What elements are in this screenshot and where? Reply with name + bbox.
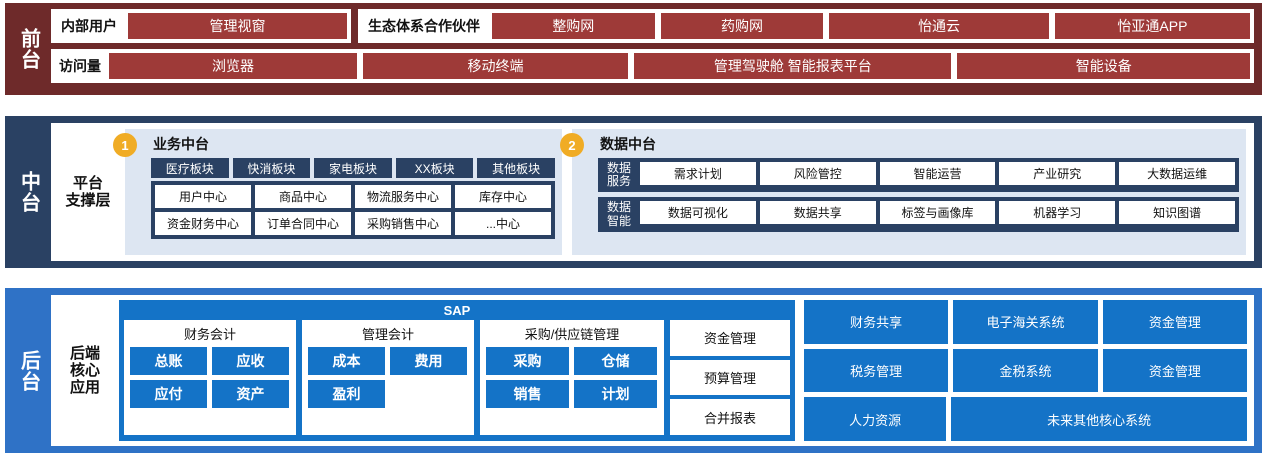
center-logistics-service[interactable]: 物流服务中心 (355, 185, 451, 208)
management-accounting-chips: 成本 费用 盈利 (308, 347, 468, 408)
segment-xx[interactable]: XX板块 (396, 158, 474, 178)
system-fund-management-1[interactable]: 资金管理 (1103, 300, 1247, 344)
front-tile-management-cockpit[interactable]: 管理驾驶舱 智能报表平台 (634, 53, 951, 79)
system-e-customs[interactable]: 电子海关系统 (953, 300, 1097, 344)
segment-other[interactable]: 其他板块 (477, 158, 555, 178)
data-intel-tag-image-library[interactable]: 标签与画像库 (880, 201, 996, 224)
data-intel-machine-learning[interactable]: 机器学习 (999, 201, 1115, 224)
data-service-risk-control[interactable]: 风险管控 (760, 162, 876, 185)
sap-box: SAP 财务会计 总账 应收 应付 资产 管理会计 (119, 300, 795, 441)
chip-planning[interactable]: 计划 (574, 380, 657, 408)
data-middle-platform-card: 2 数据中台 数据 服务 需求计划 风险管控 智能运营 产业研究 大数据运维 (572, 129, 1246, 255)
middle-stage-label: 中台 (5, 116, 51, 268)
middle-cards: 1 业务中台 医疗板块 快消板块 家电板块 XX板块 其他板块 用户中心 商品中… (125, 123, 1254, 261)
sap-column-financial-accounting: 财务会计 总账 应收 应付 资产 (124, 320, 296, 435)
segment-medical[interactable]: 医疗板块 (151, 158, 229, 178)
data-middle-platform-title: 数据中台 (600, 134, 1239, 154)
front-stage-band: 前台 内部用户 管理视窗 生态体系合作伙伴 整购网 药购网 怡通云 怡亚通APP… (5, 3, 1262, 95)
back-stage-band: 后台 后端 核心 应用 SAP 财务会计 总账 应收 (5, 288, 1262, 453)
data-intelligence-caption-line-2: 智能 (607, 215, 631, 228)
procurement-chips: 采购 仓储 销售 计划 (486, 347, 658, 408)
segment-fmcg[interactable]: 快消板块 (233, 158, 311, 178)
front-tile-mobile-terminal[interactable]: 移动终端 (363, 53, 628, 79)
backend-core-line-2: 核心 (70, 362, 100, 379)
sap-finance-tiles-column: 资金管理 预算管理 合并报表 (670, 320, 790, 435)
sap-column-financial-accounting-title: 财务会计 (130, 324, 290, 343)
chip-sales[interactable]: 销售 (486, 380, 569, 408)
center-fund-finance[interactable]: 资金财务中心 (155, 212, 251, 235)
business-centers-row-2: 资金财务中心 订单合同中心 采购销售中心 ...中心 (155, 212, 551, 235)
fin-tile-consolidated-report[interactable]: 合并报表 (670, 399, 790, 435)
front-group-internal-users: 内部用户 管理视窗 (51, 9, 351, 43)
middle-stage-body: 平台 支撑层 1 业务中台 医疗板块 快消板块 家电板块 XX板块 其他板块 (51, 123, 1254, 261)
system-tax-management[interactable]: 税务管理 (804, 349, 948, 393)
data-intelligence-strip: 数据 智能 数据可视化 数据共享 标签与画像库 机器学习 知识图谱 (598, 197, 1239, 231)
sap-column-procurement-supply-chain-title: 采购/供应链管理 (486, 324, 658, 343)
data-intel-sharing[interactable]: 数据共享 (760, 201, 876, 224)
data-service-caption-line-2: 服务 (607, 175, 631, 188)
fin-tile-budget-management[interactable]: 预算管理 (670, 360, 790, 396)
data-service-bigdata-ops[interactable]: 大数据运维 (1119, 162, 1235, 185)
center-purchase-sales[interactable]: 采购销售中心 (355, 212, 451, 235)
center-product[interactable]: 商品中心 (255, 185, 351, 208)
center-inventory[interactable]: 库存中心 (455, 185, 551, 208)
data-intelligence-caption: 数据 智能 (602, 201, 636, 227)
badge-1: 1 (113, 133, 137, 157)
systems-row-3: 人力资源 未来其他核心系统 (804, 397, 1247, 441)
chip-general-ledger[interactable]: 总账 (130, 347, 207, 375)
data-intel-knowledge-graph[interactable]: 知识图谱 (1119, 201, 1235, 224)
system-golden-tax[interactable]: 金税系统 (953, 349, 1097, 393)
front-row-2: 访问量 浏览器 移动终端 管理驾驶舱 智能报表平台 智能设备 (51, 49, 1254, 83)
business-segment-row: 医疗板块 快消板块 家电板块 XX板块 其他板块 (151, 158, 555, 178)
chip-profit[interactable]: 盈利 (308, 380, 385, 408)
back-main-area: SAP 财务会计 总账 应收 应付 资产 管理会计 (119, 295, 1254, 446)
chip-cost[interactable]: 成本 (308, 347, 385, 375)
center-more[interactable]: ...中心 (455, 212, 551, 235)
sap-title: SAP (124, 302, 790, 320)
backend-core-line-1: 后端 (70, 345, 100, 362)
center-order-contract[interactable]: 订单合同中心 (255, 212, 351, 235)
front-group-eco-partners: 生态体系合作伙伴 整购网 药购网 怡通云 怡亚通APP (358, 9, 1254, 43)
system-finance-sharing[interactable]: 财务共享 (804, 300, 948, 344)
front-tile-yiyatong-app[interactable]: 怡亚通APP (1055, 13, 1250, 39)
system-human-resources[interactable]: 人力资源 (804, 397, 946, 441)
chip-expense[interactable]: 费用 (390, 347, 467, 375)
sap-column-management-accounting: 管理会计 成本 费用 盈利 (302, 320, 474, 435)
front-row-1: 内部用户 管理视窗 生态体系合作伙伴 整购网 药购网 怡通云 怡亚通APP (51, 9, 1254, 43)
chip-assets[interactable]: 资产 (212, 380, 289, 408)
data-service-strip: 数据 服务 需求计划 风险管控 智能运营 产业研究 大数据运维 (598, 158, 1239, 192)
back-stage-body: 后端 核心 应用 SAP 财务会计 总账 应收 应付 资产 (51, 295, 1254, 446)
chip-warehouse[interactable]: 仓储 (574, 347, 657, 375)
systems-row-1: 财务共享 电子海关系统 资金管理 (804, 300, 1247, 344)
system-future-core-systems[interactable]: 未来其他核心系统 (951, 397, 1247, 441)
chip-payable[interactable]: 应付 (130, 380, 207, 408)
front-stage-label: 前台 (5, 3, 51, 95)
data-intelligence-caption-line-1: 数据 (607, 201, 631, 214)
business-centers-box: 用户中心 商品中心 物流服务中心 库存中心 资金财务中心 订单合同中心 采购销售… (151, 181, 555, 239)
backend-core-line-3: 应用 (70, 379, 100, 396)
front-tile-browser[interactable]: 浏览器 (109, 53, 357, 79)
backend-core-application-label: 后端 核心 应用 (51, 295, 119, 446)
data-service-demand-plan[interactable]: 需求计划 (640, 162, 756, 185)
front-group-internal-users-caption: 内部用户 (55, 12, 123, 40)
data-service-industry-research[interactable]: 产业研究 (999, 162, 1115, 185)
chip-procurement[interactable]: 采购 (486, 347, 569, 375)
system-fund-management-2[interactable]: 资金管理 (1103, 349, 1247, 393)
fin-tile-fund-management[interactable]: 资金管理 (670, 320, 790, 356)
platform-support-line-1: 平台 (73, 175, 103, 192)
financial-accounting-chips: 总账 应收 应付 资产 (130, 347, 290, 408)
data-service-caption: 数据 服务 (602, 162, 636, 188)
front-tile-yaogouwang[interactable]: 药购网 (661, 13, 824, 39)
front-tile-smart-device[interactable]: 智能设备 (957, 53, 1250, 79)
sap-columns: 财务会计 总账 应收 应付 资产 管理会计 成本 (124, 320, 790, 435)
front-tile-management-window[interactable]: 管理视窗 (128, 13, 347, 39)
sap-column-management-accounting-title: 管理会计 (308, 324, 468, 343)
back-stage-label: 后台 (5, 288, 51, 453)
business-middle-platform-card: 1 业务中台 医疗板块 快消板块 家电板块 XX板块 其他板块 用户中心 商品中… (125, 129, 562, 255)
chip-receivable[interactable]: 应收 (212, 347, 289, 375)
architecture-diagram: 前台 内部用户 管理视窗 生态体系合作伙伴 整购网 药购网 怡通云 怡亚通APP… (0, 0, 1267, 457)
business-centers-row-1: 用户中心 商品中心 物流服务中心 库存中心 (155, 185, 551, 208)
systems-row-2: 税务管理 金税系统 资金管理 (804, 349, 1247, 393)
segment-appliance[interactable]: 家电板块 (314, 158, 392, 178)
other-systems-grid: 财务共享 电子海关系统 资金管理 税务管理 金税系统 资金管理 人力资源 未来其… (804, 300, 1247, 441)
front-group-traffic-caption: 访问量 (55, 52, 103, 80)
center-user[interactable]: 用户中心 (155, 185, 251, 208)
platform-support-line-2: 支撑层 (65, 192, 110, 209)
front-tile-zhenggouwang[interactable]: 整购网 (492, 13, 655, 39)
data-intel-visualization[interactable]: 数据可视化 (640, 201, 756, 224)
data-service-smart-operation[interactable]: 智能运营 (880, 162, 996, 185)
front-stage-body: 内部用户 管理视窗 生态体系合作伙伴 整购网 药购网 怡通云 怡亚通APP 访问… (51, 3, 1262, 95)
sap-column-procurement-supply-chain: 采购/供应链管理 采购 仓储 销售 计划 (480, 320, 664, 435)
front-tile-yitongyun[interactable]: 怡通云 (829, 13, 1049, 39)
business-middle-platform-title: 业务中台 (153, 134, 555, 154)
front-group-traffic: 访问量 浏览器 移动终端 管理驾驶舱 智能报表平台 智能设备 (51, 49, 1254, 83)
middle-stage-band: 中台 平台 支撑层 1 业务中台 医疗板块 快消板块 家电板块 XX板块 其他板… (5, 116, 1262, 268)
badge-2: 2 (560, 133, 584, 157)
front-group-eco-partners-caption: 生态体系合作伙伴 (362, 12, 486, 40)
